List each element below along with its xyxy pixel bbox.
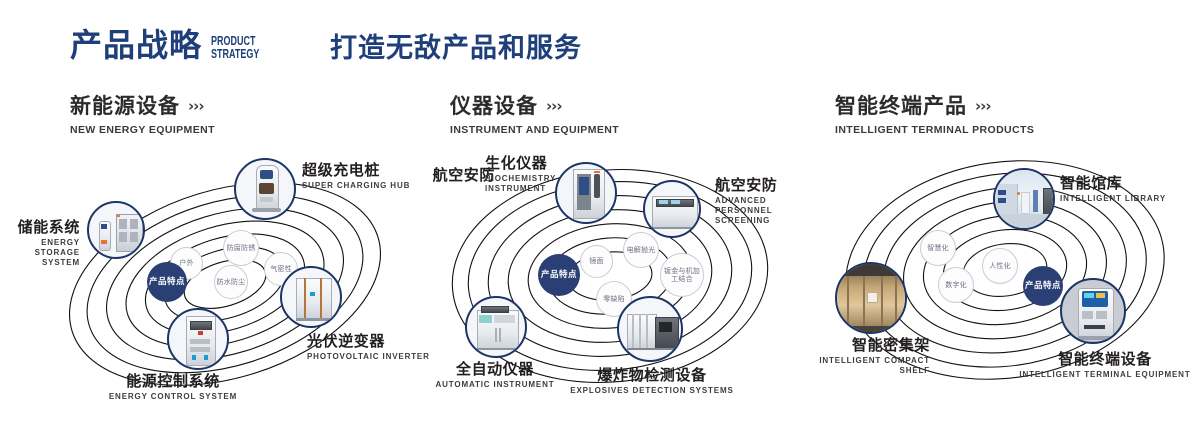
node-photovoltaic-inverter[interactable] xyxy=(280,266,342,328)
label-intelligent-library: 智能馆库 INTELLIGENT LIBRARY xyxy=(1060,174,1166,204)
node-intelligent-terminal-equipment[interactable] xyxy=(1060,278,1126,344)
cluster-new-energy: 户外 防腐防锈 防水防尘 气密性 产品特点 储能系统 ENERGY STORAG… xyxy=(40,150,440,430)
section-title-text-0: 新能源设备 xyxy=(70,94,180,118)
feature-bubble: 电解抛光 xyxy=(623,232,659,268)
label-en: INTELLIGENT COMPACT SHELF xyxy=(800,356,930,376)
feature-bubble: 钣金与机加工结合 xyxy=(660,253,704,297)
page-subtitle: 打造无敌产品和服务 xyxy=(330,33,582,65)
section-header-intelligent-terminal: 智能终端产品››› INTELLIGENT TERMINAL PRODUCTS xyxy=(835,94,1034,136)
label-cn: 生化仪器 xyxy=(485,154,565,172)
section-title-cn-2: 智能终端产品››› xyxy=(835,94,1034,118)
label-en: AUTOMATIC INSTRUMENT xyxy=(415,380,575,390)
feature-bubble: 数字化 xyxy=(938,267,974,303)
label-cn: 储能系统 xyxy=(0,218,80,236)
label-cn: 航空安防 xyxy=(395,166,495,184)
explosives-detector-icon xyxy=(619,298,681,360)
section-title-text-1: 仪器设备 xyxy=(450,94,538,118)
page-title-en: PRODUCT STRATEGY xyxy=(211,35,259,60)
section-title-en-2: INTELLIGENT TERMINAL PRODUCTS xyxy=(835,124,1034,136)
section-title-text-2: 智能终端产品 xyxy=(835,94,967,118)
label-advanced-personnel-screening-left: 航空安防 xyxy=(395,166,495,184)
feature-bubble: 智慧化 xyxy=(920,230,956,266)
product-features-badge: 产品特点 xyxy=(147,262,187,302)
compact-shelf-icon xyxy=(837,264,905,332)
node-super-charging-hub[interactable] xyxy=(234,158,296,220)
label-cn: 能源控制系统 xyxy=(78,372,268,390)
biochemistry-analyzer-icon xyxy=(557,164,615,222)
label-en: SUPER CHARGING HUB xyxy=(302,181,410,191)
label-cn: 超级充电桩 xyxy=(302,161,410,179)
self-service-kiosk-icon xyxy=(1062,280,1124,342)
label-cn: 全自动仪器 xyxy=(415,360,575,378)
page-title-en-line1: PRODUCT xyxy=(211,35,259,48)
label-cn: 智能密集架 xyxy=(760,336,930,354)
label-en: INTELLIGENT LIBRARY xyxy=(1060,194,1166,204)
label-photovoltaic-inverter: 光伏逆变器 PHOTOVOLTAIC INVERTER xyxy=(307,332,430,362)
page-title: 产品战略 PRODUCT STRATEGY xyxy=(70,28,278,62)
section-title-en-1: INSTRUMENT AND EQUIPMENT xyxy=(450,124,619,136)
node-energy-storage-system[interactable] xyxy=(87,201,145,259)
cluster-instrument: 镜面 电解抛光 钣金与机加工结合 零缺陷 产品特点 航空安防 生化仪器 BIOC… xyxy=(425,150,825,430)
node-automatic-instrument[interactable] xyxy=(465,296,527,358)
section-title-en-0: NEW ENERGY EQUIPMENT xyxy=(70,124,215,136)
node-energy-control-system[interactable] xyxy=(167,308,229,370)
label-en: ENERGY CONTROL SYSTEM xyxy=(78,392,268,402)
section-title-cn-0: 新能源设备››› xyxy=(70,94,215,118)
feature-bubble: 镜面 xyxy=(580,245,613,278)
screening-machine-icon xyxy=(645,182,699,236)
section-title-cn-1: 仪器设备››› xyxy=(450,94,619,118)
node-advanced-personnel-screening[interactable] xyxy=(643,180,701,238)
label-energy-control-system: 能源控制系统 ENERGY CONTROL SYSTEM xyxy=(78,372,268,402)
automatic-instrument-icon xyxy=(467,298,525,356)
label-cn: 爆炸物检测设备 xyxy=(567,366,737,384)
label-en: ADVANCED PERSONNEL SCREENING xyxy=(715,196,825,226)
label-energy-storage-system: 储能系统 ENERGY STORAGE SYSTEM xyxy=(0,218,80,268)
page-title-en-line2: STRATEGY xyxy=(211,48,259,61)
label-cn: 航空安防 xyxy=(715,176,825,194)
label-explosives-detection-systems: 爆炸物检测设备 EXPLOSIVES DETECTION SYSTEMS xyxy=(567,366,737,396)
cluster-intelligent-terminal: 智慧化 数字化 人性化 产品特点 智能馆库 INTELLIGENT LIBRAR… xyxy=(810,150,1200,430)
feature-bubble: 防腐防锈 xyxy=(223,230,259,266)
label-cn: 智能馆库 xyxy=(1060,174,1166,192)
control-cabinet-icon xyxy=(169,310,227,368)
node-intelligent-library[interactable] xyxy=(993,168,1055,230)
charging-pile-icon xyxy=(236,160,294,218)
label-en: EXPLOSIVES DETECTION SYSTEMS xyxy=(567,386,737,396)
feature-bubble: 人性化 xyxy=(982,248,1018,284)
label-en: INTELLIGENT TERMINAL EQUIPMENT xyxy=(1010,370,1200,380)
node-explosives-detection-systems[interactable] xyxy=(617,296,683,362)
chevron-right-icon: ››› xyxy=(188,94,204,118)
section-header-instrument: 仪器设备››› INSTRUMENT AND EQUIPMENT xyxy=(450,94,619,136)
product-features-badge: 产品特点 xyxy=(538,254,580,296)
node-intelligent-compact-shelf[interactable] xyxy=(835,262,907,334)
label-en: PHOTOVOLTAIC INVERTER xyxy=(307,352,430,362)
feature-bubble: 防水防尘 xyxy=(214,265,248,299)
product-features-badge: 产品特点 xyxy=(1023,266,1063,306)
chevron-right-icon: ››› xyxy=(546,94,562,118)
label-advanced-personnel-screening: 航空安防 ADVANCED PERSONNEL SCREENING xyxy=(715,176,825,226)
page-title-cn: 产品战略 xyxy=(70,28,202,62)
label-intelligent-compact-shelf: 智能密集架 INTELLIGENT COMPACT SHELF xyxy=(760,336,930,378)
slide-canvas: 产品战略 PRODUCT STRATEGY 打造无敌产品和服务 新能源设备›››… xyxy=(0,0,1200,422)
label-super-charging-hub: 超级充电桩 SUPER CHARGING HUB xyxy=(302,161,410,191)
chevron-right-icon: ››› xyxy=(975,94,991,118)
label-automatic-instrument: 全自动仪器 AUTOMATIC INSTRUMENT xyxy=(415,360,575,390)
label-cn: 智能终端设备 xyxy=(1010,350,1200,368)
label-en: BIOCHEMISTRY INSTRUMENT xyxy=(485,174,565,194)
inverter-cabinet-icon xyxy=(282,268,340,326)
label-biochemistry-instrument: 生化仪器 BIOCHEMISTRY INSTRUMENT xyxy=(485,154,565,194)
smart-library-icon xyxy=(995,170,1053,228)
label-cn: 光伏逆变器 xyxy=(307,332,430,350)
label-intelligent-terminal-equipment: 智能终端设备 INTELLIGENT TERMINAL EQUIPMENT xyxy=(1010,350,1200,380)
label-en: ENERGY STORAGE SYSTEM xyxy=(0,238,80,268)
section-header-new-energy: 新能源设备››› NEW ENERGY EQUIPMENT xyxy=(70,94,215,136)
energy-storage-cabinet-icon xyxy=(89,203,143,257)
